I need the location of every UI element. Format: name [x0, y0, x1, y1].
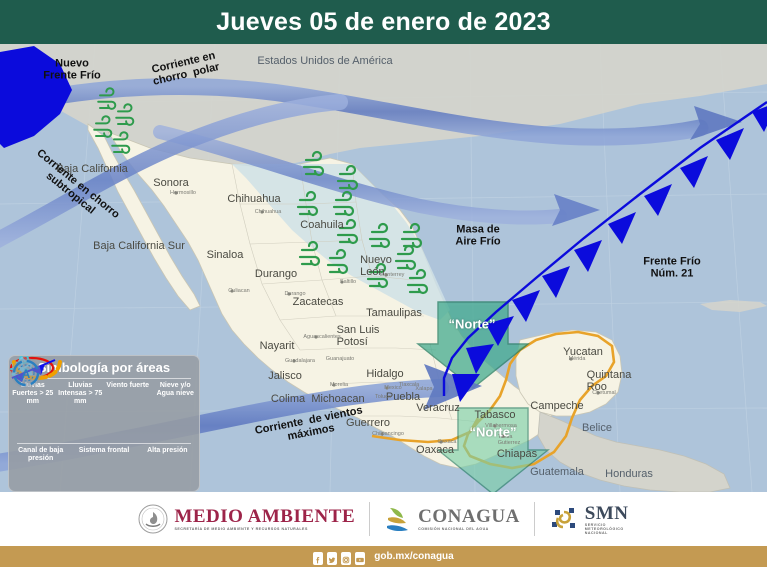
logo-text: CONAGUA COMISIÓN NACIONAL DEL AGUA: [418, 507, 520, 531]
logo-sub-text: SERVICIO METEOROLÓGICO NACIONAL: [585, 523, 629, 535]
weather-map: Estados Unidos de AméricaBeliceGuatemala…: [0, 44, 767, 492]
logo-conagua: CONAGUA COMISIÓN NACIONAL DEL AGUA: [384, 504, 520, 534]
page-header: Jueves 05 de enero de 2023: [0, 0, 767, 44]
high-pressure-a-icon: A: [136, 455, 199, 489]
legend-item-alta-presion: Alta presión A: [136, 444, 199, 492]
footer-logos: MEDIO AMBIENTE SECRETARÍA DE MEDIO AMBIE…: [0, 492, 767, 546]
logo-sub-text: SECRETARÍA DE MEDIO AMBIENTE Y RECURSOS …: [174, 527, 355, 531]
legend-label: Canal de baja presión: [9, 447, 72, 463]
smn-glyph-icon: [549, 504, 579, 534]
legend-label: Nieve y/o Agua nieve: [152, 382, 200, 398]
weather-map-page: Jueves 05 de enero de 2023: [0, 0, 767, 567]
legend-label: Sistema frontal: [72, 447, 135, 455]
cold-front-icon: [72, 455, 135, 489]
legend-item-sistema-frontal: Sistema frontal: [72, 444, 135, 492]
logo-main-text: CONAGUA: [418, 507, 520, 527]
escudo-nacional-icon: [138, 504, 168, 534]
norte-istmo: “Norte”: [470, 425, 517, 440]
logo-main-text: MEDIO AMBIENTE: [174, 507, 355, 527]
snowflake-icon: [152, 398, 200, 432]
logo-text: MEDIO AMBIENTE SECRETARÍA DE MEDIO AMBIE…: [174, 507, 355, 531]
youtube-icon[interactable]: [355, 552, 365, 562]
orange-ellipse-icon: [9, 406, 57, 440]
legend-item-viento-fuerte: Viento fuerte: [104, 379, 152, 440]
page-title: Jueves 05 de enero de 2023: [216, 8, 551, 37]
site-url: gob.mx/conagua: [374, 551, 453, 562]
legend-panel: Simbología por áreas Lluvias Fuertes > 2…: [8, 355, 200, 492]
legend-row-systems: Canal de baja presión Sistema frontal: [9, 444, 199, 492]
red-ellipse-icon: [57, 406, 105, 440]
footer-divider-2: [534, 502, 535, 536]
conagua-eagle-icon: [384, 504, 412, 534]
social-bar: gob.mx/conagua: [0, 546, 767, 567]
logo-sub-text: COMISIÓN NACIONAL DEL AGUA: [418, 527, 520, 531]
legend-label: Viento fuerte: [104, 382, 152, 390]
norte-veracruz: “Norte”: [449, 317, 496, 332]
instagram-icon[interactable]: [341, 552, 351, 562]
legend-label: Alta presión: [136, 447, 199, 455]
logo-main-text: SMN: [585, 504, 629, 523]
facebook-icon[interactable]: [313, 552, 323, 562]
dashed-trough-icon: [9, 463, 72, 492]
svg-text:A: A: [22, 367, 31, 381]
wind-swirl-icon: [104, 390, 152, 424]
footer-divider-1: [369, 502, 370, 536]
legend-item-canal-baja-presion: Canal de baja presión: [9, 444, 72, 492]
legend-item-nieve: Nieve y/o Agua nieve: [152, 379, 200, 440]
logo-smn: SMN SERVICIO METEOROLÓGICO NACIONAL: [549, 504, 629, 535]
logo-text: SMN SERVICIO METEOROLÓGICO NACIONAL: [585, 504, 629, 535]
logo-medio-ambiente: MEDIO AMBIENTE SECRETARÍA DE MEDIO AMBIE…: [138, 504, 355, 534]
twitter-icon[interactable]: [327, 552, 337, 562]
legend-label: Lluvias Intensas > 75 mm: [57, 382, 105, 406]
legend-item-lluvias-intensas: Lluvias Intensas > 75 mm: [57, 379, 105, 440]
